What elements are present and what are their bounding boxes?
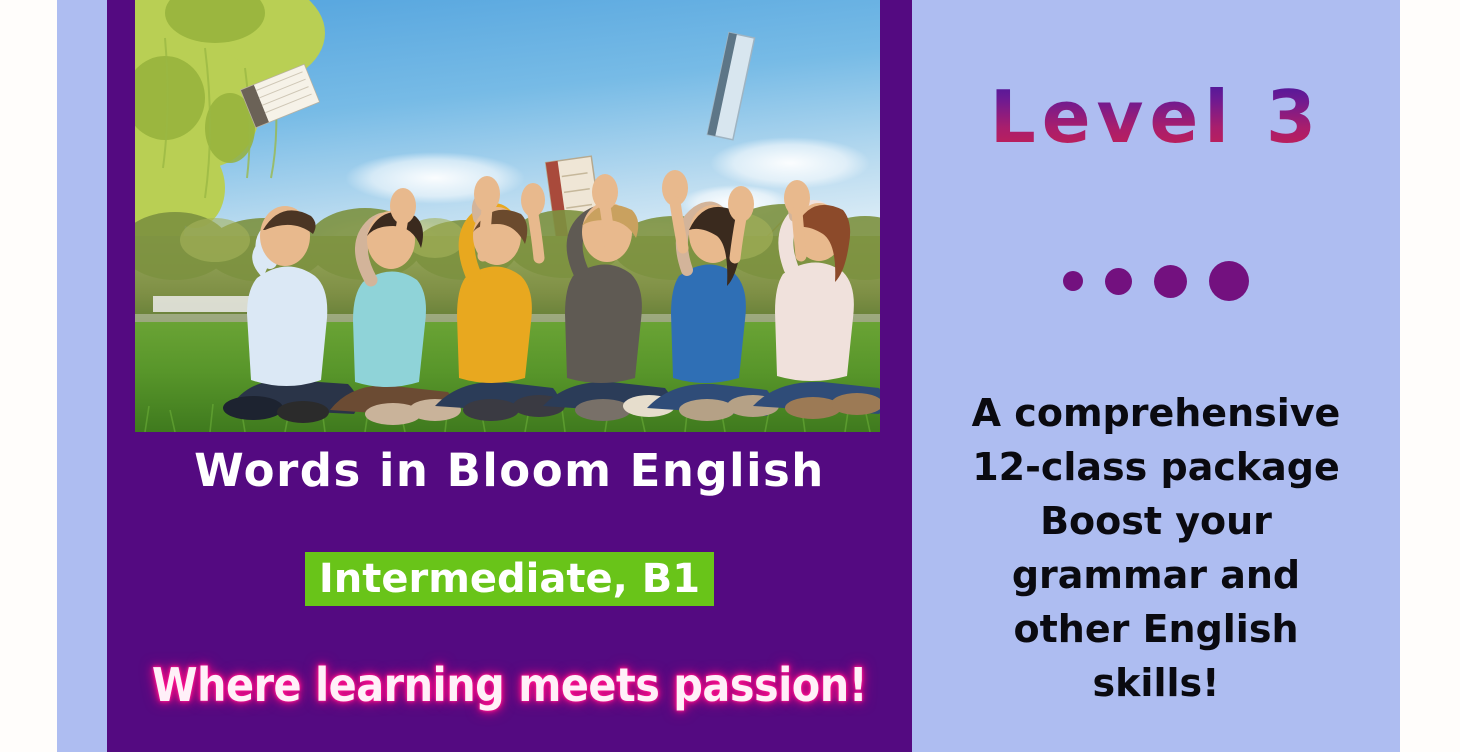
description-line: A comprehensive [922, 386, 1390, 440]
page-title: Words in Bloom English [107, 444, 912, 497]
info-column: Level 3 A comprehensive 12-class package… [912, 0, 1400, 752]
level-badge-wrapper: Intermediate, B1 [107, 552, 912, 606]
description-line: other English [922, 602, 1390, 656]
progress-dot-4 [1209, 261, 1249, 301]
description-line: skills! [922, 656, 1390, 710]
progress-dot-2 [1105, 268, 1132, 295]
progress-dot-3 [1154, 265, 1187, 298]
description-line: grammar and [922, 548, 1390, 602]
description-line: Boost your [922, 494, 1390, 548]
slide-canvas: Words in Bloom English Intermediate, B1 … [57, 0, 1400, 752]
level-heading: Level 3 [912, 75, 1400, 159]
level-progress-dots [912, 258, 1400, 304]
progress-dot-1 [1063, 271, 1083, 291]
tagline: Where learning meets passion! [107, 658, 912, 712]
status-badge: Intermediate, B1 [305, 552, 714, 606]
course-description: A comprehensive 12-class package Boost y… [922, 386, 1390, 710]
description-line: 12-class package [922, 440, 1390, 494]
students-photo [135, 0, 880, 432]
course-card: Words in Bloom English Intermediate, B1 … [107, 0, 912, 752]
